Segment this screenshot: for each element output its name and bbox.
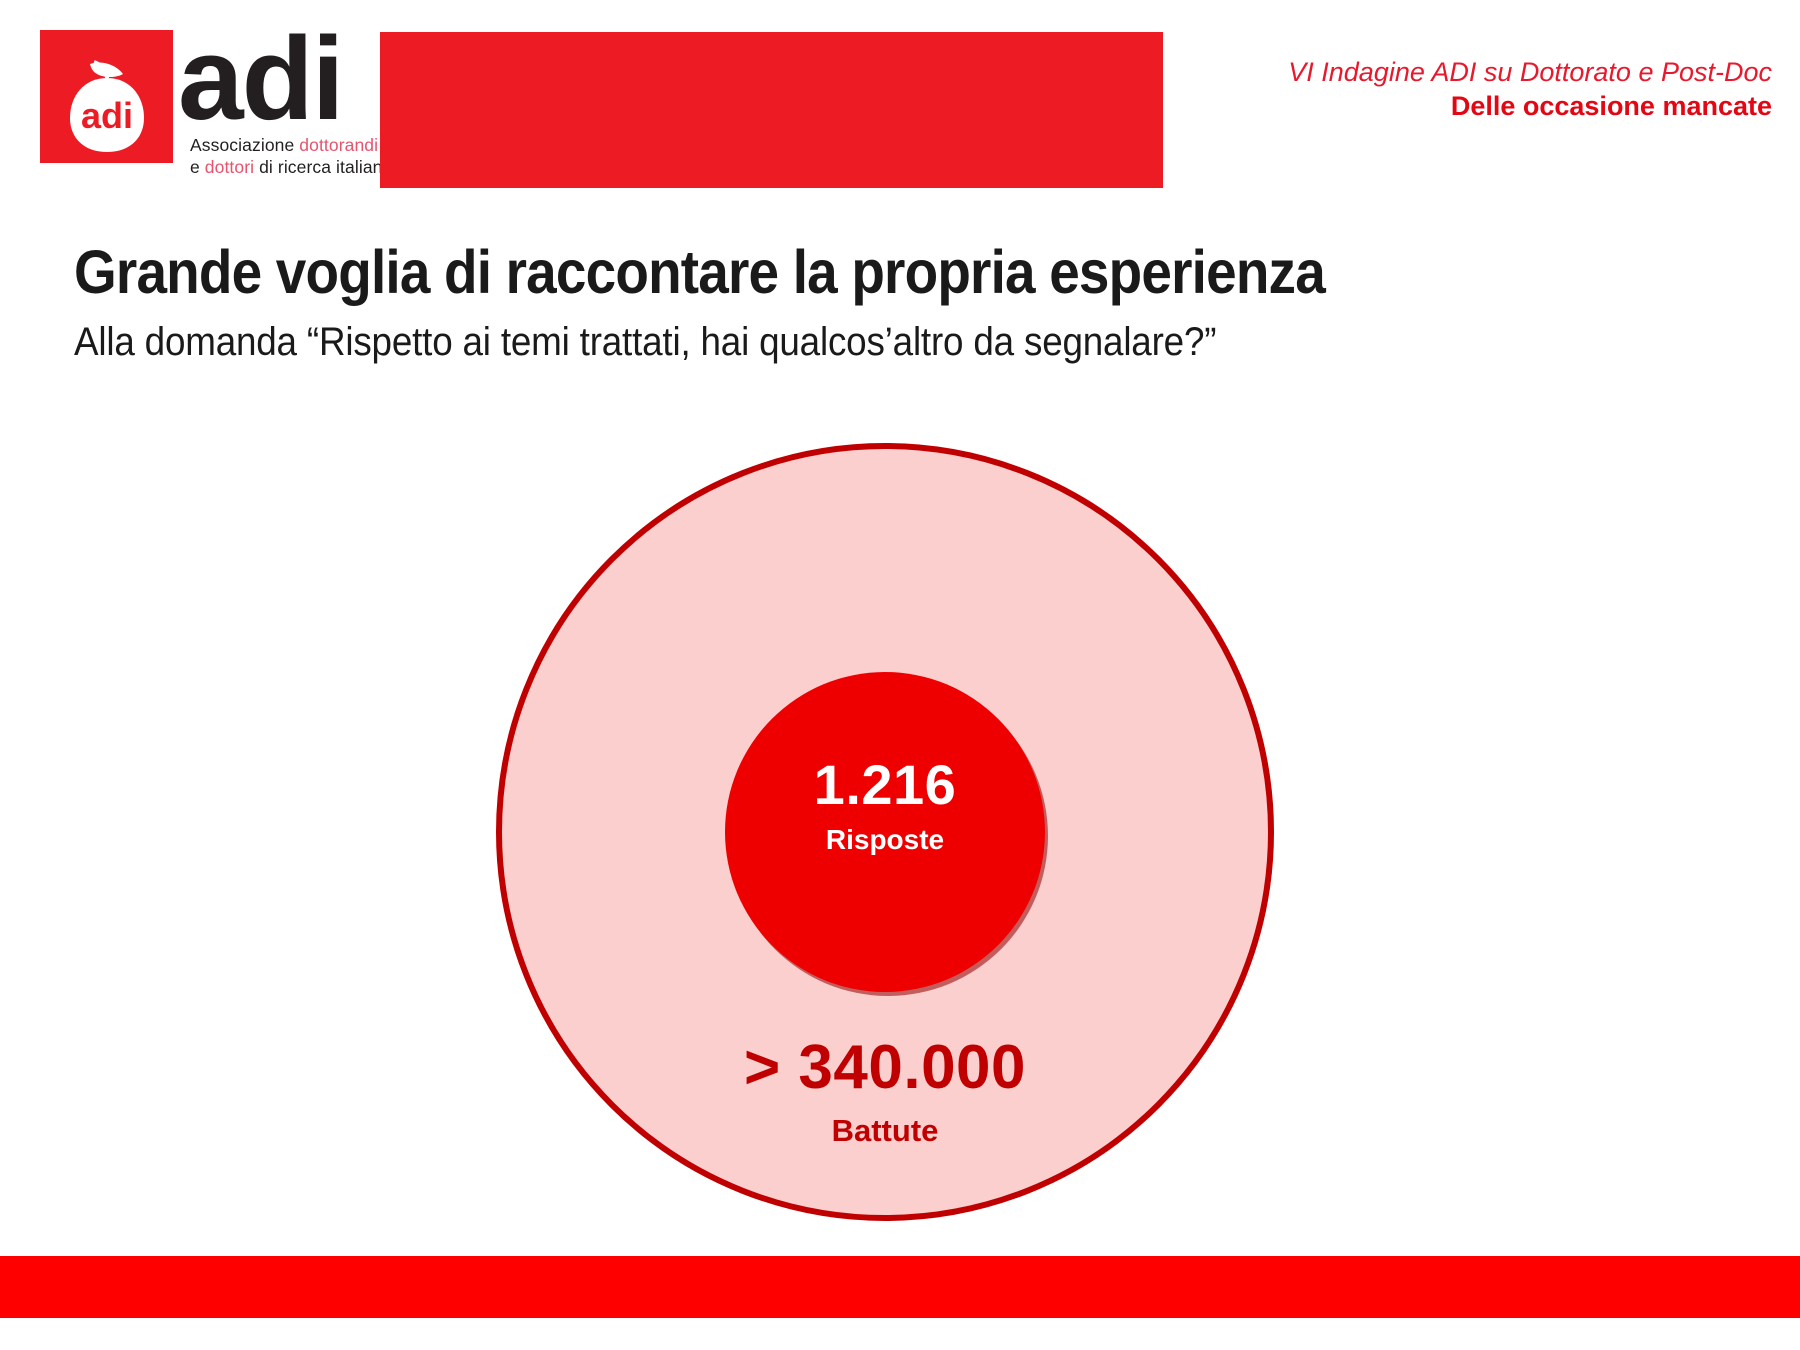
bubble-chart: 1.216 Risposte > 340.000 Battute [0,0,1800,1350]
apple-icon: adi [60,56,154,154]
svg-text:adi: adi [81,95,133,136]
tagline-plain-1: Associazione [190,135,299,155]
adi-logo-wordmark: adi [178,20,343,138]
adi-logo-tagline-line-2: e dottori di ricerca italiani [190,157,386,178]
responses-label: Risposte [725,823,1045,857]
tagline-accent-2: dottori [205,157,254,177]
adi-logo-tagline-line-1: Associazione dottorandi [190,135,378,156]
adi-logo: adi adi Associazione dottorandi e dottor… [38,28,358,178]
header-red-banner [380,32,1163,188]
tagline-plain-2b: di ricerca italiani [254,157,386,177]
survey-subtitle: Delle occasione mancate [1288,90,1772,124]
responses-value: 1.216 [725,756,1045,815]
slide-header: adi adi Associazione dottorandi e dottor… [0,0,1800,200]
tagline-accent-1: dottorandi [299,135,378,155]
outer-bubble-labels: > 340.000 Battute [496,1035,1274,1149]
inner-bubble-labels: 1.216 Risposte [725,756,1045,856]
footer-red-bar [0,1256,1800,1318]
adi-logo-red-square: adi [40,30,173,163]
header-survey-text: VI Indagine ADI su Dottorato e Post-Doc … [1288,56,1772,124]
characters-value: > 340.000 [496,1035,1274,1100]
tagline-plain-2a: e [190,157,205,177]
page-title: Grande voglia di raccontare la propria e… [74,237,1325,307]
survey-title: VI Indagine ADI su Dottorato e Post-Doc [1288,56,1772,90]
outer-bubble-battute [496,443,1274,1221]
page-subtitle: Alla domanda “Rispetto ai temi trattati,… [74,320,1216,365]
characters-label: Battute [496,1112,1274,1149]
inner-bubble-risposte: 1.216 Risposte [725,672,1045,992]
